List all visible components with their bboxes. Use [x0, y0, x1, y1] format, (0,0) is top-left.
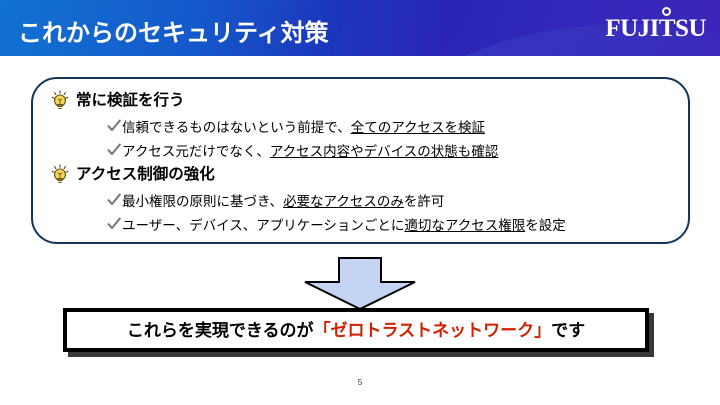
point-group: アクセス制御の強化 最小権限の原則に基づき、必要なアクセスのみを許可 ユーザー、… — [33, 163, 688, 235]
conclusion-prefix: これらを実現できるのが — [127, 321, 314, 340]
page-title: これからのセキュリティ対策 — [18, 13, 329, 48]
check-icon — [107, 193, 121, 207]
point-heading-row: 常に検証を行う — [50, 89, 688, 113]
list-item-text-underlined: 必要なアクセスのみ — [283, 194, 404, 209]
list-item-text-plain: アクセス元だけでなく、 — [122, 144, 270, 159]
slide-header: これからのセキュリティ対策 FUJITSU — [0, 0, 720, 56]
check-icon — [107, 119, 121, 133]
content-rounded-box: 常に検証を行う 信頼できるものはないという前提で、全てのアクセスを検証 アクセス… — [31, 77, 690, 244]
page-number: 5 — [0, 378, 720, 387]
point-heading-row: アクセス制御の強化 — [50, 163, 688, 187]
list-item: 最小権限の原則に基づき、必要なアクセスのみを許可 — [107, 192, 688, 211]
slide: これからのセキュリティ対策 FUJITSU — [0, 0, 720, 405]
list-item-text: ユーザー、デバイス、アプリケーションごとに適切なアクセス権限を設定 — [122, 219, 566, 233]
point-heading-label: 常に検証を行う — [76, 93, 185, 109]
list-item-text-plain: 信頼できるものはないという前提で、 — [122, 120, 351, 135]
list-item-text-underlined: アクセス内容やデバイスの状態も確認 — [270, 144, 498, 159]
check-icon — [107, 217, 121, 231]
list-item-text-suffix: を設定 — [525, 218, 566, 233]
list-item-text-plain: ユーザー、デバイス、アプリケーションごとに — [122, 218, 404, 233]
list-item-text-underlined: 適切なアクセス権限 — [404, 218, 525, 233]
list-item-text-suffix: を許可 — [404, 194, 445, 209]
list-item: ユーザー、デバイス、アプリケーションごとに適切なアクセス権限を設定 — [107, 216, 688, 235]
list-item-text-underlined: 全てのアクセスを検証 — [351, 120, 485, 135]
fujitsu-logo: FUJITSU — [605, 16, 706, 41]
conclusion-text: これらを実現できるのが「ゼロトラストネットワーク」です — [127, 322, 585, 339]
point-heading-label: アクセス制御の強化 — [76, 167, 215, 183]
fujitsu-logo-text: FUJITSU — [605, 16, 706, 41]
conclusion-suffix: です — [551, 321, 585, 340]
list-item: アクセス元だけでなく、アクセス内容やデバイスの状態も確認 — [107, 142, 688, 161]
list-item-text: 信頼できるものはないという前提で、全てのアクセスを検証 — [122, 121, 485, 135]
conclusion-highlight: 「ゼロトラストネットワーク」 — [314, 321, 552, 340]
check-icon — [107, 143, 121, 157]
list-item-text-plain: 最小権限の原則に基づき、 — [122, 194, 283, 209]
down-arrow-icon — [303, 257, 417, 310]
lightbulb-icon — [50, 90, 70, 112]
list-item: 信頼できるものはないという前提で、全てのアクセスを検証 — [107, 118, 688, 137]
lightbulb-icon — [50, 164, 70, 186]
list-item-text: 最小権限の原則に基づき、必要なアクセスのみを許可 — [122, 195, 444, 209]
point-group: 常に検証を行う 信頼できるものはないという前提で、全てのアクセスを検証 アクセス… — [33, 89, 688, 161]
list-item-text: アクセス元だけでなく、アクセス内容やデバイスの状態も確認 — [122, 145, 498, 159]
conclusion-box: これらを実現できるのが「ゼロトラストネットワーク」です — [63, 308, 649, 352]
